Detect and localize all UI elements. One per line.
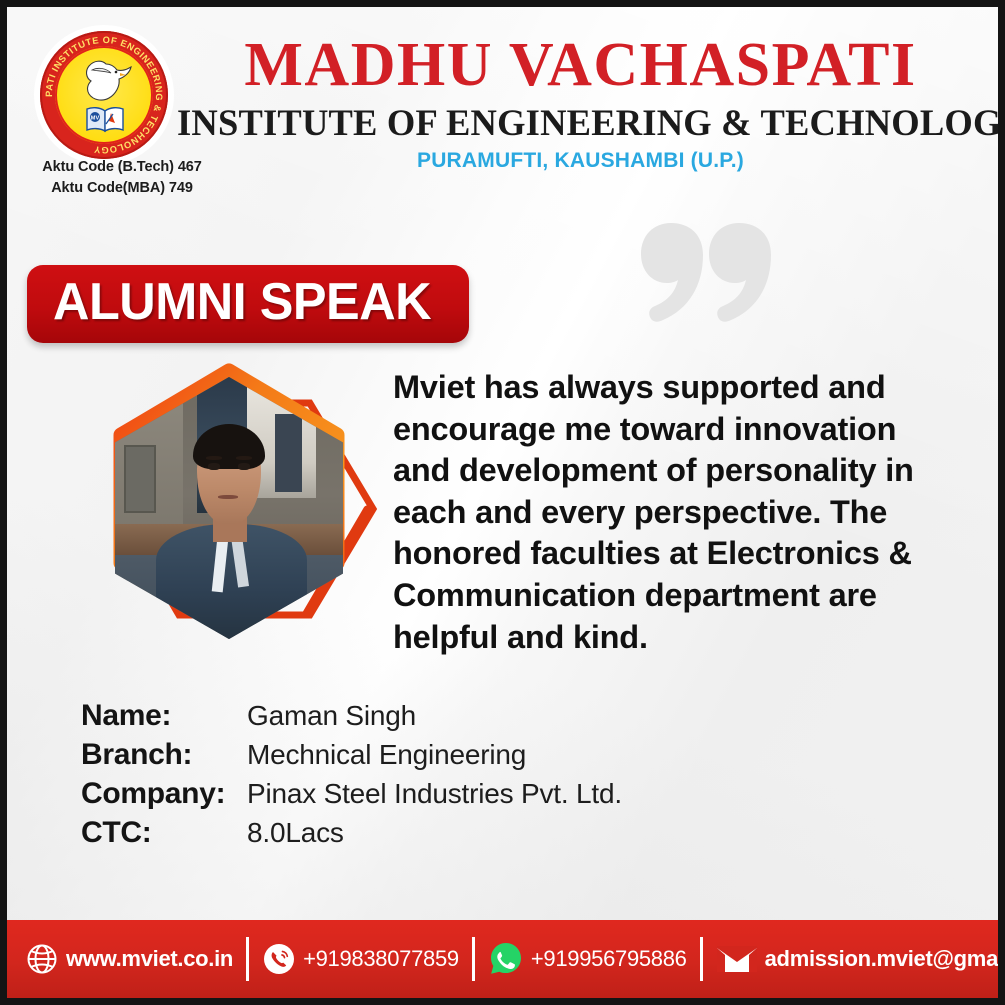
quote-line: Communication department are	[393, 575, 975, 617]
alumni-photo-frame	[69, 349, 389, 679]
quote-line: honored faculties at Electronics &	[393, 533, 975, 575]
whatsapp-icon	[488, 941, 524, 977]
institute-subtitle: INSTITUTE OF ENGINEERING & TECHNOLOGY	[177, 103, 984, 143]
quote-line: each and every perspective. The	[393, 492, 975, 534]
globe-icon	[25, 942, 59, 976]
poster-header: MADHU VACHASPATI INSTITUTE OF ENGINEERIN…	[7, 7, 998, 203]
footer-divider	[472, 937, 475, 981]
institute-name: MADHU VACHASPATI	[177, 33, 984, 99]
footer-divider	[700, 937, 703, 981]
quote-line: and development of personality in	[393, 450, 975, 492]
institute-logo: MADHU VACHASPATI INSTITUTE OF ENGINEERIN…	[34, 25, 174, 165]
detail-label: CTC:	[81, 816, 247, 850]
footer-website[interactable]: www.mviet.co.in	[25, 942, 233, 976]
alumni-speak-poster: MADHU VACHASPATI INSTITUTE OF ENGINEERIN…	[0, 0, 1005, 1005]
svg-text:MV: MV	[91, 116, 100, 122]
footer-website-text: www.mviet.co.in	[66, 946, 233, 972]
detail-label: Branch:	[81, 738, 247, 772]
alumni-speak-label: ALUMNI SPEAK	[53, 276, 431, 328]
alumni-details: Name: Gaman Singh Branch: Mechnical Engi…	[81, 699, 781, 855]
footer-phone[interactable]: +919838077859	[262, 942, 459, 976]
alumni-quote: Mviet has always supported and encourage…	[393, 367, 975, 658]
phone-icon	[262, 942, 296, 976]
institute-title-block: MADHU VACHASPATI INSTITUTE OF ENGINEERIN…	[177, 33, 984, 173]
detail-value: Pinax Steel Industries Pvt. Ltd.	[247, 778, 622, 810]
open-book-icon: MV	[84, 104, 126, 134]
footer-divider	[246, 937, 249, 981]
contact-footer: www.mviet.co.in +919838077859	[7, 920, 998, 998]
alumni-speak-badge: ALUMNI SPEAK	[27, 265, 469, 343]
detail-label: Company:	[81, 777, 247, 811]
footer-email[interactable]: admission.mviet@gmail.com	[716, 943, 1005, 975]
detail-value: 8.0Lacs	[247, 817, 344, 849]
footer-whatsapp[interactable]: +919956795886	[488, 941, 687, 977]
detail-row-branch: Branch: Mechnical Engineering	[81, 738, 781, 772]
detail-value: Mechnical Engineering	[247, 739, 526, 771]
quote-line: helpful and kind.	[393, 617, 975, 659]
quote-line: Mviet has always supported and	[393, 367, 975, 409]
dove-icon	[76, 58, 134, 106]
detail-value: Gaman Singh	[247, 700, 416, 732]
institute-location: PURAMUFTI, KAUSHAMBI (U.P.)	[177, 149, 984, 173]
footer-phone-text: +919838077859	[303, 946, 459, 972]
detail-row-ctc: CTC: 8.0Lacs	[81, 816, 781, 850]
double-quotation-mark-icon	[627, 205, 777, 325]
detail-row-company: Company: Pinax Steel Industries Pvt. Ltd…	[81, 777, 781, 811]
aktu-code-mba: Aktu Code(MBA) 749	[17, 178, 227, 199]
detail-label: Name:	[81, 699, 247, 733]
footer-whatsapp-text: +919956795886	[531, 946, 687, 972]
quote-line: encourage me toward innovation	[393, 409, 975, 451]
detail-row-name: Name: Gaman Singh	[81, 699, 781, 733]
footer-email-text: admission.mviet@gmail.com	[765, 946, 1005, 972]
gmail-envelope-icon	[716, 943, 758, 975]
